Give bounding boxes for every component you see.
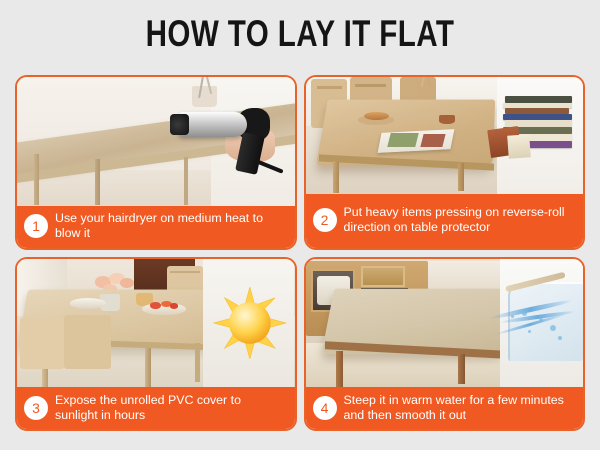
water-bubble [539,318,543,322]
step-2-caption: 2 Put heavy items pressing on reverse-ro… [306,194,584,248]
table-leg [145,348,151,387]
chair-icon [20,318,64,369]
bread-icon [364,112,389,120]
chair-slat [170,271,201,273]
step-number-badge: 2 [313,208,337,232]
plant-icon [192,86,217,107]
page-title: HOW TO LAY IT FLAT [60,14,540,54]
flower-icon [120,278,134,288]
step-card-2[interactable]: 2 Put heavy items pressing on reverse-ro… [304,75,586,250]
sun-icon [211,287,289,359]
sun-rays-icon [211,287,289,359]
plate-icon [70,298,106,308]
step-4-photo [306,259,584,388]
magazine-image [420,134,445,147]
water-bubble [550,325,556,331]
step-3-photo [17,259,295,388]
step-4-caption: 4 Steep it in warm water for a few minut… [306,387,584,429]
table-leg [458,354,465,385]
hairdryer-nozzle [170,114,189,135]
cabinet-door [361,266,405,287]
water-bubble [558,336,562,340]
table-leg [458,163,464,191]
step-3-text: Expose the unrolled PVC cover to sunligh… [55,393,287,422]
steps-grid: 1 Use your hairdryer on medium heat to b… [15,75,585,431]
infographic-page: HOW TO LAY IT FLAT [0,0,600,450]
step-1-caption: 1 Use your hairdryer on medium heat to b… [17,206,295,248]
table-leg [195,343,200,382]
step-number-badge: 3 [24,396,48,420]
step-2-text: Put heavy items pressing on reverse-roll… [344,205,576,234]
fruit-icon [150,302,161,308]
book-item [507,135,531,160]
step-2-photo [306,77,584,194]
step-card-4[interactable]: 4 Steep it in warm water for a few minut… [304,257,586,432]
step-number-badge: 1 [24,214,48,238]
step-1-text: Use your hairdryer on medium heat to blo… [55,211,287,240]
step-1-photo [17,77,295,206]
tea-glass-icon [439,115,456,123]
step-card-3[interactable]: 3 Expose the unrolled PVC cover to sunli… [15,257,297,432]
table-leg [34,154,39,205]
water-bubble [511,315,514,318]
book-stack-icon [505,96,572,103]
table-leg [336,351,343,387]
step-number-badge: 4 [313,396,337,420]
table-leg [184,157,188,206]
step-4-text: Steep it in warm water for a few minutes… [344,393,576,422]
table-leg [333,161,339,194]
chair-icon [64,315,111,369]
magazine-image [387,133,418,147]
step-card-1[interactable]: 1 Use your hairdryer on medium heat to b… [15,75,297,250]
utensil-pot-icon [417,82,436,98]
step-3-caption: 3 Expose the unrolled PVC cover to sunli… [17,387,295,429]
fruit-icon [170,303,178,308]
chair-slat [317,86,342,89]
chair-slat [355,84,386,87]
table-leg [95,159,100,205]
